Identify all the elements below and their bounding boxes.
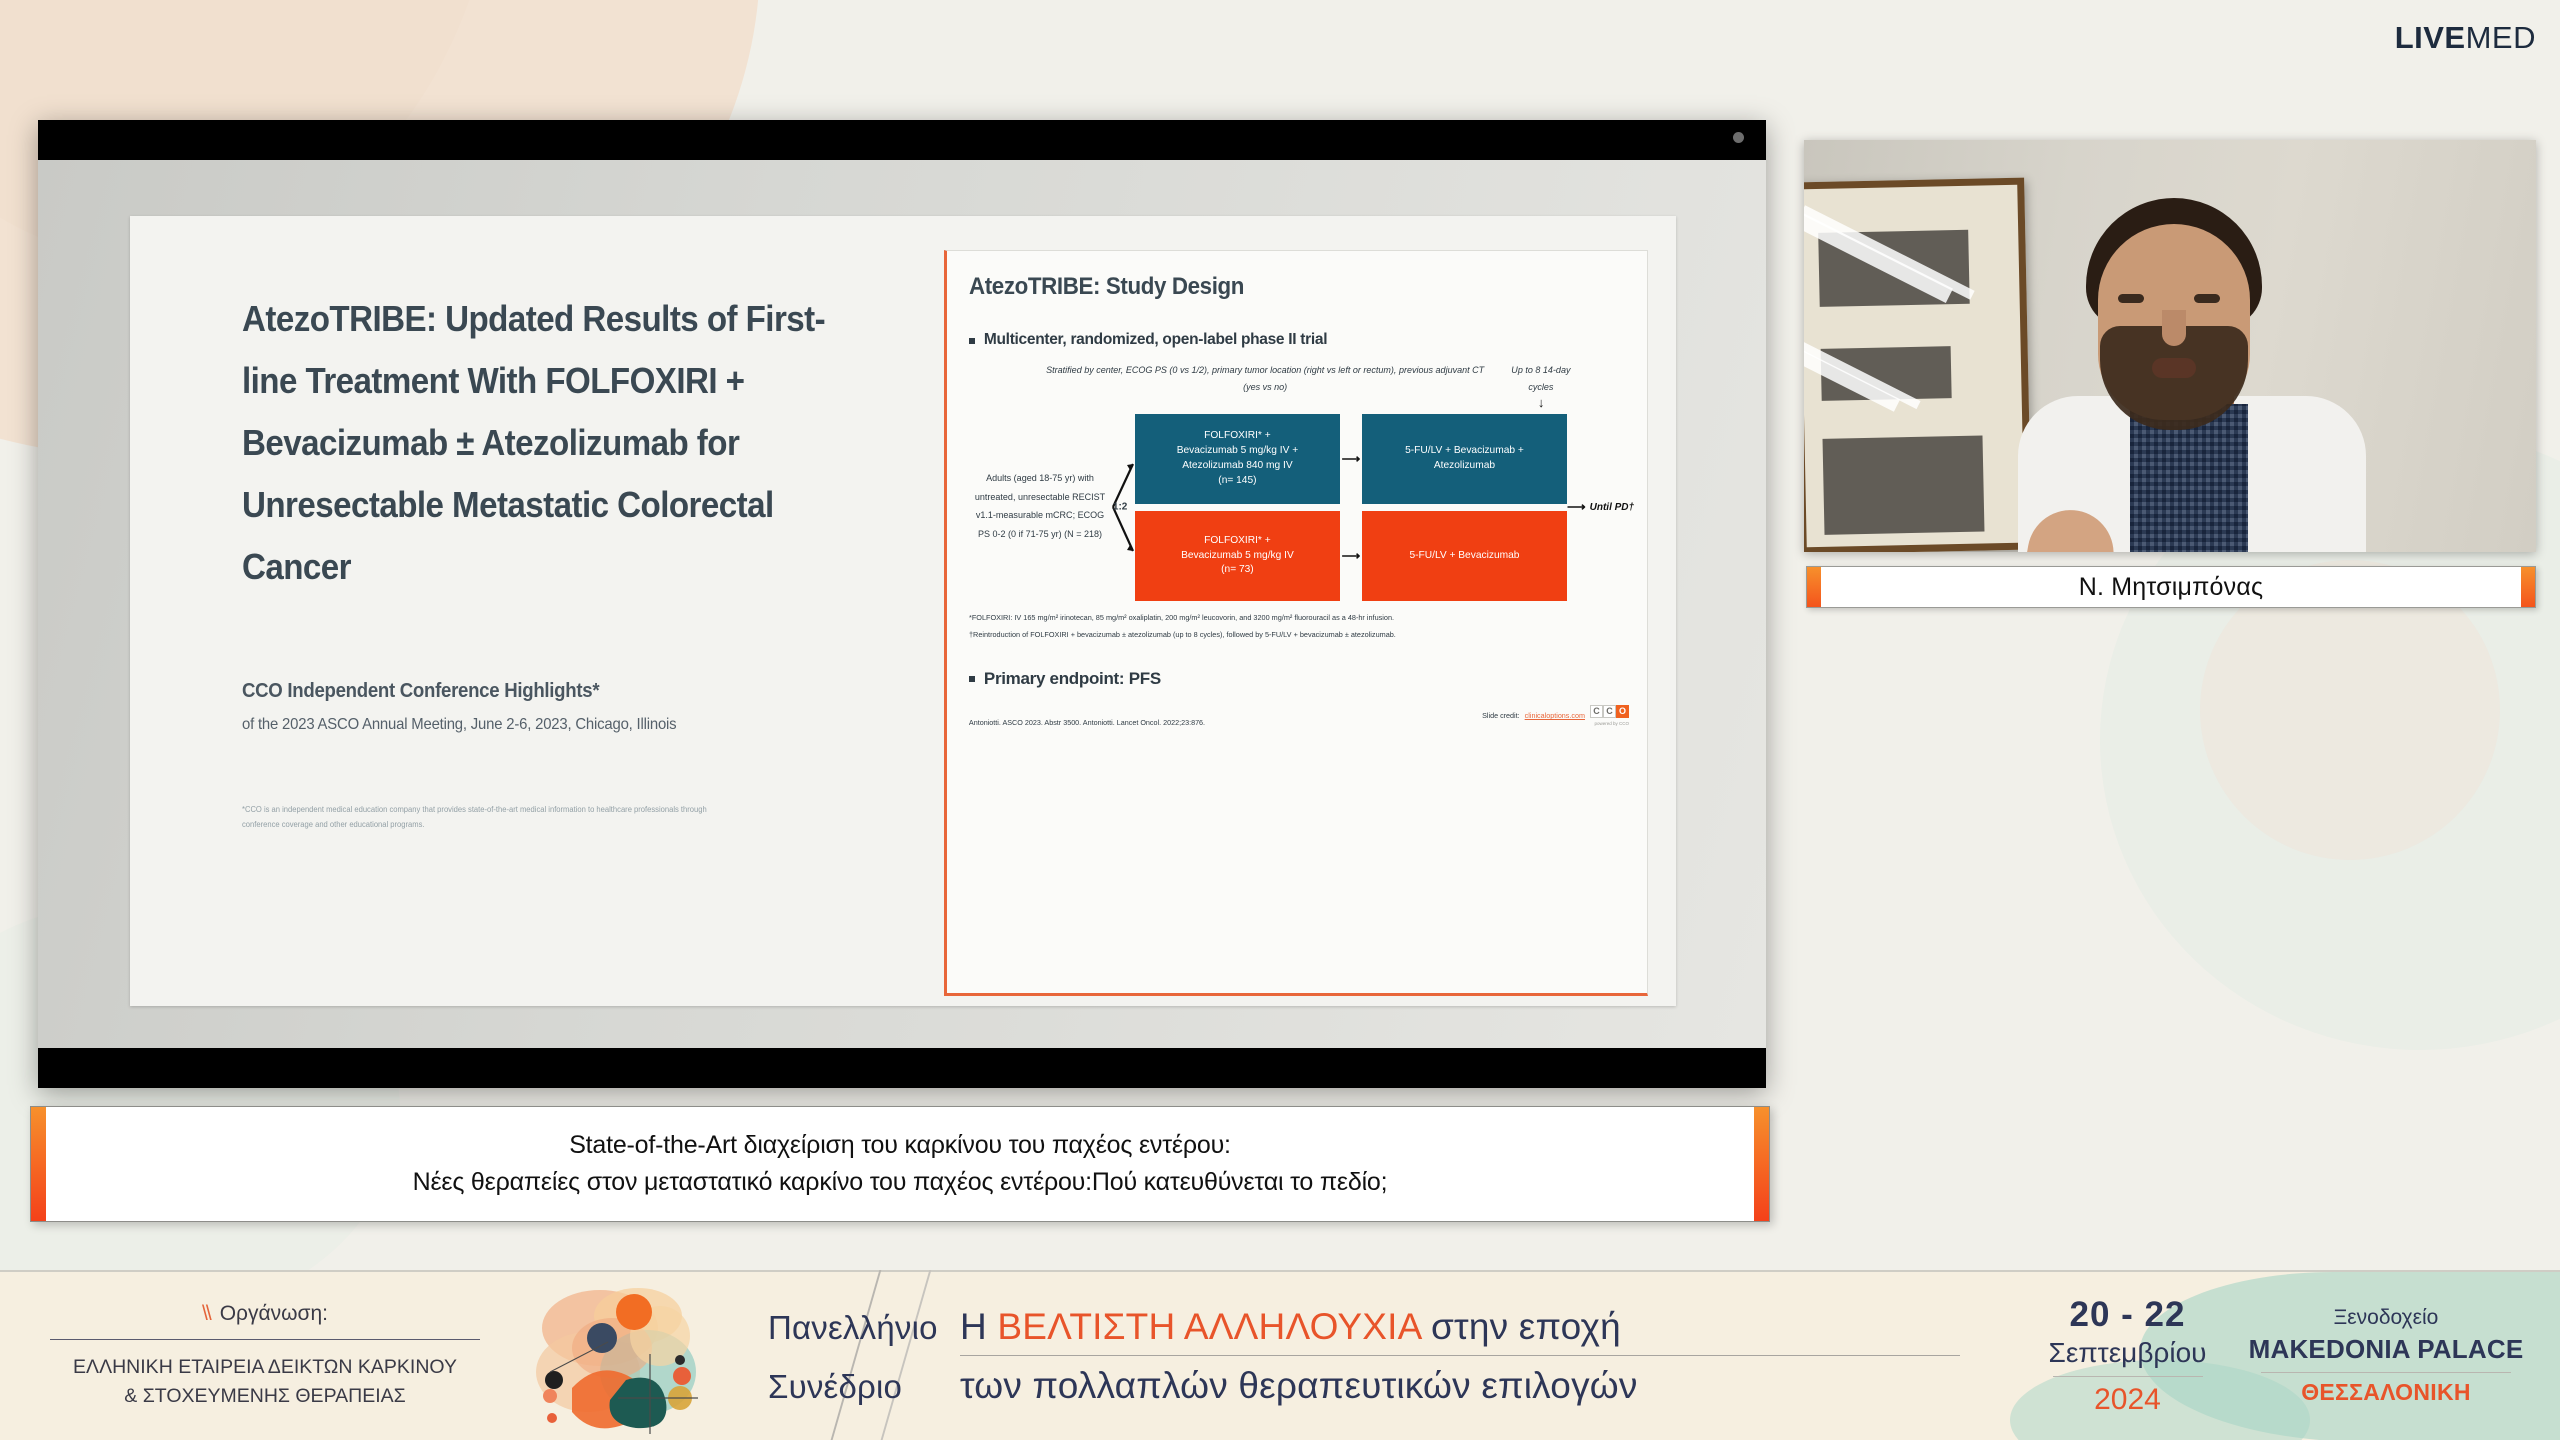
footer-event-title: Πανελλήνιο Η ΒΕΛΤΙΣΤΗ ΑΛΛΗΛΟΥΧΙΑ στην επ… — [760, 1272, 2025, 1440]
footer-event-line-1-highlight: ΒΕΛΤΙΣΤΗ ΑΛΛΗΛΟΥΧΙΑ — [997, 1306, 1420, 1347]
footer-organizer-name-line-2: & ΣΤΟΧΕΥΜΕΝΗΣ ΘΕΡΑΠΕΙΑΣ — [73, 1382, 457, 1410]
study-design-frame: AtezoTRIBE: Study Design Multicenter, ra… — [944, 250, 1648, 996]
footer-event-underline — [960, 1355, 1960, 1356]
arm-b-induction-line2: Bevacizumab 5 mg/kg IV — [1181, 549, 1294, 564]
conference-footer-banner: \\ Οργάνωση: ΕΛΛΗΝΙΚΗ ΕΤΑΙΡΕΙΑ ΔΕΙΚΤΩΝ Κ… — [0, 1270, 2560, 1440]
footer-date-year: 2024 — [2094, 1383, 2161, 1417]
broadcast-stage: LIVEMED AtezoTRIBE: Updated Results of F… — [0, 0, 2560, 1440]
arm-b-induction-line1: FOLFOXIRI* + — [1204, 534, 1271, 549]
arrow-down-icon: ↓ — [1499, 398, 1583, 408]
cco-letter-2: C — [1603, 705, 1616, 718]
arrow-right-icon-a: ⟶ — [1340, 451, 1362, 467]
footer-date-rule — [2053, 1376, 2203, 1377]
arm-b-maintenance-box: 5-FU/LV + Bevacizumab — [1362, 511, 1567, 601]
livemed-logo: LIVEMED — [2395, 20, 2536, 56]
arm-a-induction-n: (n= 145) — [1218, 474, 1256, 489]
speaker-nameplate: Ν. Μητσιμπόνας — [1806, 566, 2536, 608]
footer-organizer: \\ Οργάνωση: ΕΛΛΗΝΙΚΗ ΕΤΑΙΡΕΙΑ ΔΕΙΚΤΩΝ Κ… — [0, 1272, 530, 1440]
letterbox-bottom — [38, 1048, 1766, 1088]
session-title-banner: State-of-the-Art διαχείριση του καρκίνου… — [30, 1106, 1770, 1222]
footer-date-range: 20 - 22 — [2070, 1295, 2186, 1335]
cco-letter-1: C — [1590, 705, 1603, 718]
slide-title-panel: AtezoTRIBE: Updated Results of First-lin… — [130, 216, 934, 1006]
study-design-citation: Antoniotti. ASCO 2023. Abstr 3500. Anton… — [969, 718, 1205, 727]
nameplate-accent-left — [1807, 567, 1821, 607]
study-design-bullet-2: Primary endpoint: PFS — [969, 669, 1629, 689]
wall-picture-frame — [1804, 178, 2032, 552]
footer-event-line-1-a: Η — [960, 1306, 997, 1347]
caption-line-2: Νέες θεραπείες στον μεταστατικό καρκίνο … — [413, 1168, 1388, 1197]
slide-surround: AtezoTRIBE: Updated Results of First-lin… — [38, 160, 1766, 1048]
randomization-split: 1:2 — [1111, 414, 1135, 601]
footer-event-line-2: των πολλαπλών θεραπευτικών επιλογών — [960, 1365, 1638, 1407]
slide-credit: Slide credit: clinicaloptions.com C C O … — [1482, 705, 1629, 727]
slide-player[interactable]: AtezoTRIBE: Updated Results of First-lin… — [38, 120, 1766, 1088]
caption-accent-right — [1754, 1107, 1769, 1221]
caption-accent-left — [31, 1107, 46, 1221]
study-design-strat-row: Stratified by center, ECOG PS (0 vs 1/2)… — [969, 363, 1629, 408]
study-design-diagram: Adults (aged 18-75 yr) with untreated, u… — [969, 414, 1629, 601]
study-design-footnote-2: †Reintroduction of FOLFOXIRI + bevacizum… — [969, 628, 1603, 643]
logo-text-live: LIVE — [2395, 20, 2466, 55]
footer-event-pre-2: Συνέδριο — [768, 1368, 944, 1406]
footer-venue-label: Ξενοδοχείο — [2334, 1306, 2439, 1330]
arm-b-induction-box: FOLFOXIRI* + Bevacizumab 5 mg/kg IV (n= … — [1135, 511, 1340, 601]
arm-a-induction-box: FOLFOXIRI* + Bevacizumab 5 mg/kg IV + At… — [1135, 414, 1340, 504]
caption-text-group: State-of-the-Art διαχείριση του καρκίνου… — [46, 1107, 1754, 1221]
arm-a-maintenance-line2: Atezolizumab — [1434, 459, 1495, 474]
arm-a-induction-line1: FOLFOXIRI* + — [1204, 429, 1271, 444]
study-design-footnote-1: *FOLFOXIRI: IV 165 mg/m² irinotecan, 85 … — [969, 611, 1603, 626]
arrow-right-icon-b: ⟶ — [1340, 548, 1362, 564]
footer-organizer-label: Οργάνωση: — [220, 1302, 328, 1326]
study-design-bullet-2-text: Primary endpoint: PFS — [984, 669, 1161, 689]
letterbox-top — [38, 120, 1766, 160]
footer-venue-city: ΘΕΣΣΑΛΟΝΙΚΗ — [2301, 1379, 2471, 1406]
speaker-portrait — [2012, 198, 2372, 552]
speaker-eye-right — [2194, 294, 2220, 303]
until-pd-group: ⟶ Until PD† — [1567, 499, 1629, 515]
presentation-slide: AtezoTRIBE: Updated Results of First-lin… — [130, 216, 1676, 1006]
stratification-note: Stratified by center, ECOG PS (0 vs 1/2)… — [1045, 363, 1485, 408]
footer-artwork — [530, 1272, 760, 1440]
logo-text-med: MED — [2466, 20, 2536, 55]
footer-organizer-label-row: \\ Οργάνωση: — [202, 1302, 328, 1326]
arm-a-induction-line3: Atezolizumab 840 mg IV — [1182, 459, 1292, 474]
arrow-right-icon-until: ⟶ — [1567, 499, 1586, 515]
speaker-mouth — [2152, 358, 2196, 378]
randomization-ratio: 1:2 — [1113, 502, 1127, 513]
footer-event-row-1: Πανελλήνιο Η ΒΕΛΤΙΣΤΗ ΑΛΛΗΛΟΥΧΙΑ στην επ… — [768, 1306, 2025, 1348]
footer-event-row-2: Συνέδριο των πολλαπλών θεραπευτικών επιλ… — [768, 1365, 2025, 1407]
recording-indicator-icon — [1733, 132, 1744, 143]
cco-logo: C C O powered by CCO — [1590, 705, 1629, 727]
footer-venue-block: Ξενοδοχείο MAKEDONIA PALACE ΘΕΣΣΑΛΟΝΙΚΗ — [2230, 1272, 2560, 1440]
nameplate-accent-right — [2521, 567, 2535, 607]
footer-event-line-1-b: στην εποχή — [1420, 1306, 1620, 1347]
slide-subtitle: CCO Independent Conference Highlights* — [242, 680, 848, 703]
study-design-bullet-1: Multicenter, randomized, open-label phas… — [969, 331, 1629, 349]
footer-event-pre-1: Πανελλήνιο — [768, 1309, 944, 1347]
speaker-name: Ν. Μητσιμπόνας — [1821, 573, 2521, 602]
arm-b-maintenance-line1: 5-FU/LV + Bevacizumab — [1409, 549, 1519, 564]
footer-organizer-name: ΕΛΛΗΝΙΚΗ ΕΤΑΙΡΕΙΑ ΔΕΙΚΤΩΝ ΚΑΡΚΙΝΟΥ & ΣΤΟ… — [73, 1353, 457, 1410]
cco-letter-3: O — [1616, 705, 1629, 718]
footer-venue-rule — [2261, 1372, 2511, 1373]
footer-organizer-rule — [50, 1339, 480, 1340]
speaker-video-feed[interactable] — [1804, 140, 2536, 552]
abstract-watercolor-icon — [530, 1276, 755, 1438]
study-design-bullet-1-text: Multicenter, randomized, open-label phas… — [984, 331, 1327, 349]
slide-fineprint: *CCO is an independent medical education… — [242, 802, 736, 833]
slide-study-design-panel: AtezoTRIBE: Study Design Multicenter, ra… — [934, 216, 1676, 1006]
bullet-square-icon — [969, 338, 975, 344]
footer-event-line-1: Η ΒΕΛΤΙΣΤΗ ΑΛΛΗΛΟΥΧΙΑ στην εποχή — [960, 1306, 1621, 1348]
slide-credit-link[interactable]: clinicaloptions.com — [1525, 711, 1585, 720]
slide-credit-label: Slide credit: — [1482, 711, 1520, 720]
footer-venue-name: MAKEDONIA PALACE — [2249, 1334, 2524, 1365]
slide-title: AtezoTRIBE: Updated Results of First-lin… — [242, 288, 842, 598]
footer-organizer-name-line-1: ΕΛΛΗΝΙΚΗ ΕΤΑΙΡΕΙΑ ΔΕΙΚΤΩΝ ΚΑΡΚΙΝΟΥ — [73, 1353, 457, 1381]
cycles-note: Up to 8 14-day cycles — [1502, 363, 1581, 397]
bullet-square-icon-2 — [969, 676, 975, 682]
footer-date-month: Σεπτεμβρίου — [2049, 1337, 2207, 1369]
footer-date-block: 20 - 22 Σεπτεμβρίου 2024 — [2025, 1272, 2230, 1440]
speaker-nose — [2162, 310, 2186, 346]
arm-a-maintenance-line1: 5-FU/LV + Bevacizumab + — [1405, 444, 1524, 459]
cco-logo-sub: powered by CCO — [1594, 721, 1629, 726]
population-box: Adults (aged 18-75 yr) with untreated, u… — [973, 470, 1106, 545]
study-design-citation-row: Antoniotti. ASCO 2023. Abstr 3500. Anton… — [969, 705, 1629, 727]
caption-line-1: State-of-the-Art διαχείριση του καρκίνου… — [569, 1131, 1231, 1160]
arm-a-induction-line2: Bevacizumab 5 mg/kg IV + — [1177, 444, 1298, 459]
arm-b-induction-n: (n= 73) — [1221, 563, 1254, 578]
slide-subtitle-secondary: of the 2023 ASCO Annual Meeting, June 2-… — [242, 716, 848, 734]
speaker-eye-left — [2118, 294, 2144, 303]
arm-a-maintenance-box: 5-FU/LV + Bevacizumab + Atezolizumab — [1362, 414, 1567, 504]
study-design-title: AtezoTRIBE: Study Design — [969, 273, 1583, 301]
until-pd-label: Until PD† — [1590, 502, 1634, 513]
organizer-slashes-icon: \\ — [202, 1302, 210, 1326]
